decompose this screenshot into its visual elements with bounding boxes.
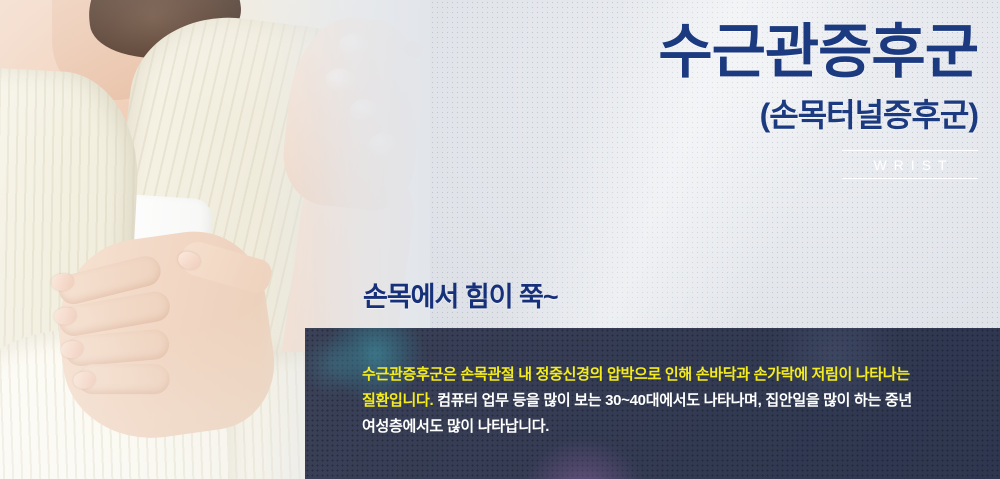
description-line: 수근관증후군은 손목관절 내 정중신경의 압박으로 인해 손바닥과 손가락에 저…: [362, 362, 974, 388]
description-highlight: 수근관증후군은 손목관절 내 정중신경의 압박으로 인해 손바닥과 손가락에 저…: [362, 366, 910, 383]
eyebrow-label: WRIST: [846, 157, 974, 173]
description-panel: 수근관증후군은 손목관절 내 정중신경의 압박으로 인해 손바닥과 손가락에 저…: [305, 328, 1000, 479]
eyebrow-rule: WRIST: [842, 150, 978, 179]
tagline: 손목에서 힘이 쭉~: [363, 275, 558, 314]
description-line: 여성층에서도 많이 나타납니다.: [362, 414, 974, 440]
description-rest: 여성층에서도 많이 나타납니다.: [362, 418, 549, 435]
description-highlight: 질환입니다.: [362, 392, 433, 409]
page-title: 수근관증후군: [658, 22, 978, 84]
description-text: 수근관증후군은 손목관절 내 정중신경의 압박으로 인해 손바닥과 손가락에 저…: [362, 362, 974, 440]
description-line: 질환입니다. 컴퓨터 업무 등을 많이 보는 30~40대에서도 나타나며, 집…: [362, 388, 974, 414]
page-subtitle: (손목터널증후군): [658, 90, 978, 136]
heading-block: 수근관증후군 (손목터널증후군) WRIST: [658, 22, 978, 179]
description-rest: 컴퓨터 업무 등을 많이 보는 30~40대에서도 나타나며, 집안일을 많이 …: [433, 392, 912, 409]
wrist-disease-banner: 수근관증후군 (손목터널증후군) WRIST 손목에서 힘이 쭉~ 수근관증후군…: [0, 0, 1000, 479]
